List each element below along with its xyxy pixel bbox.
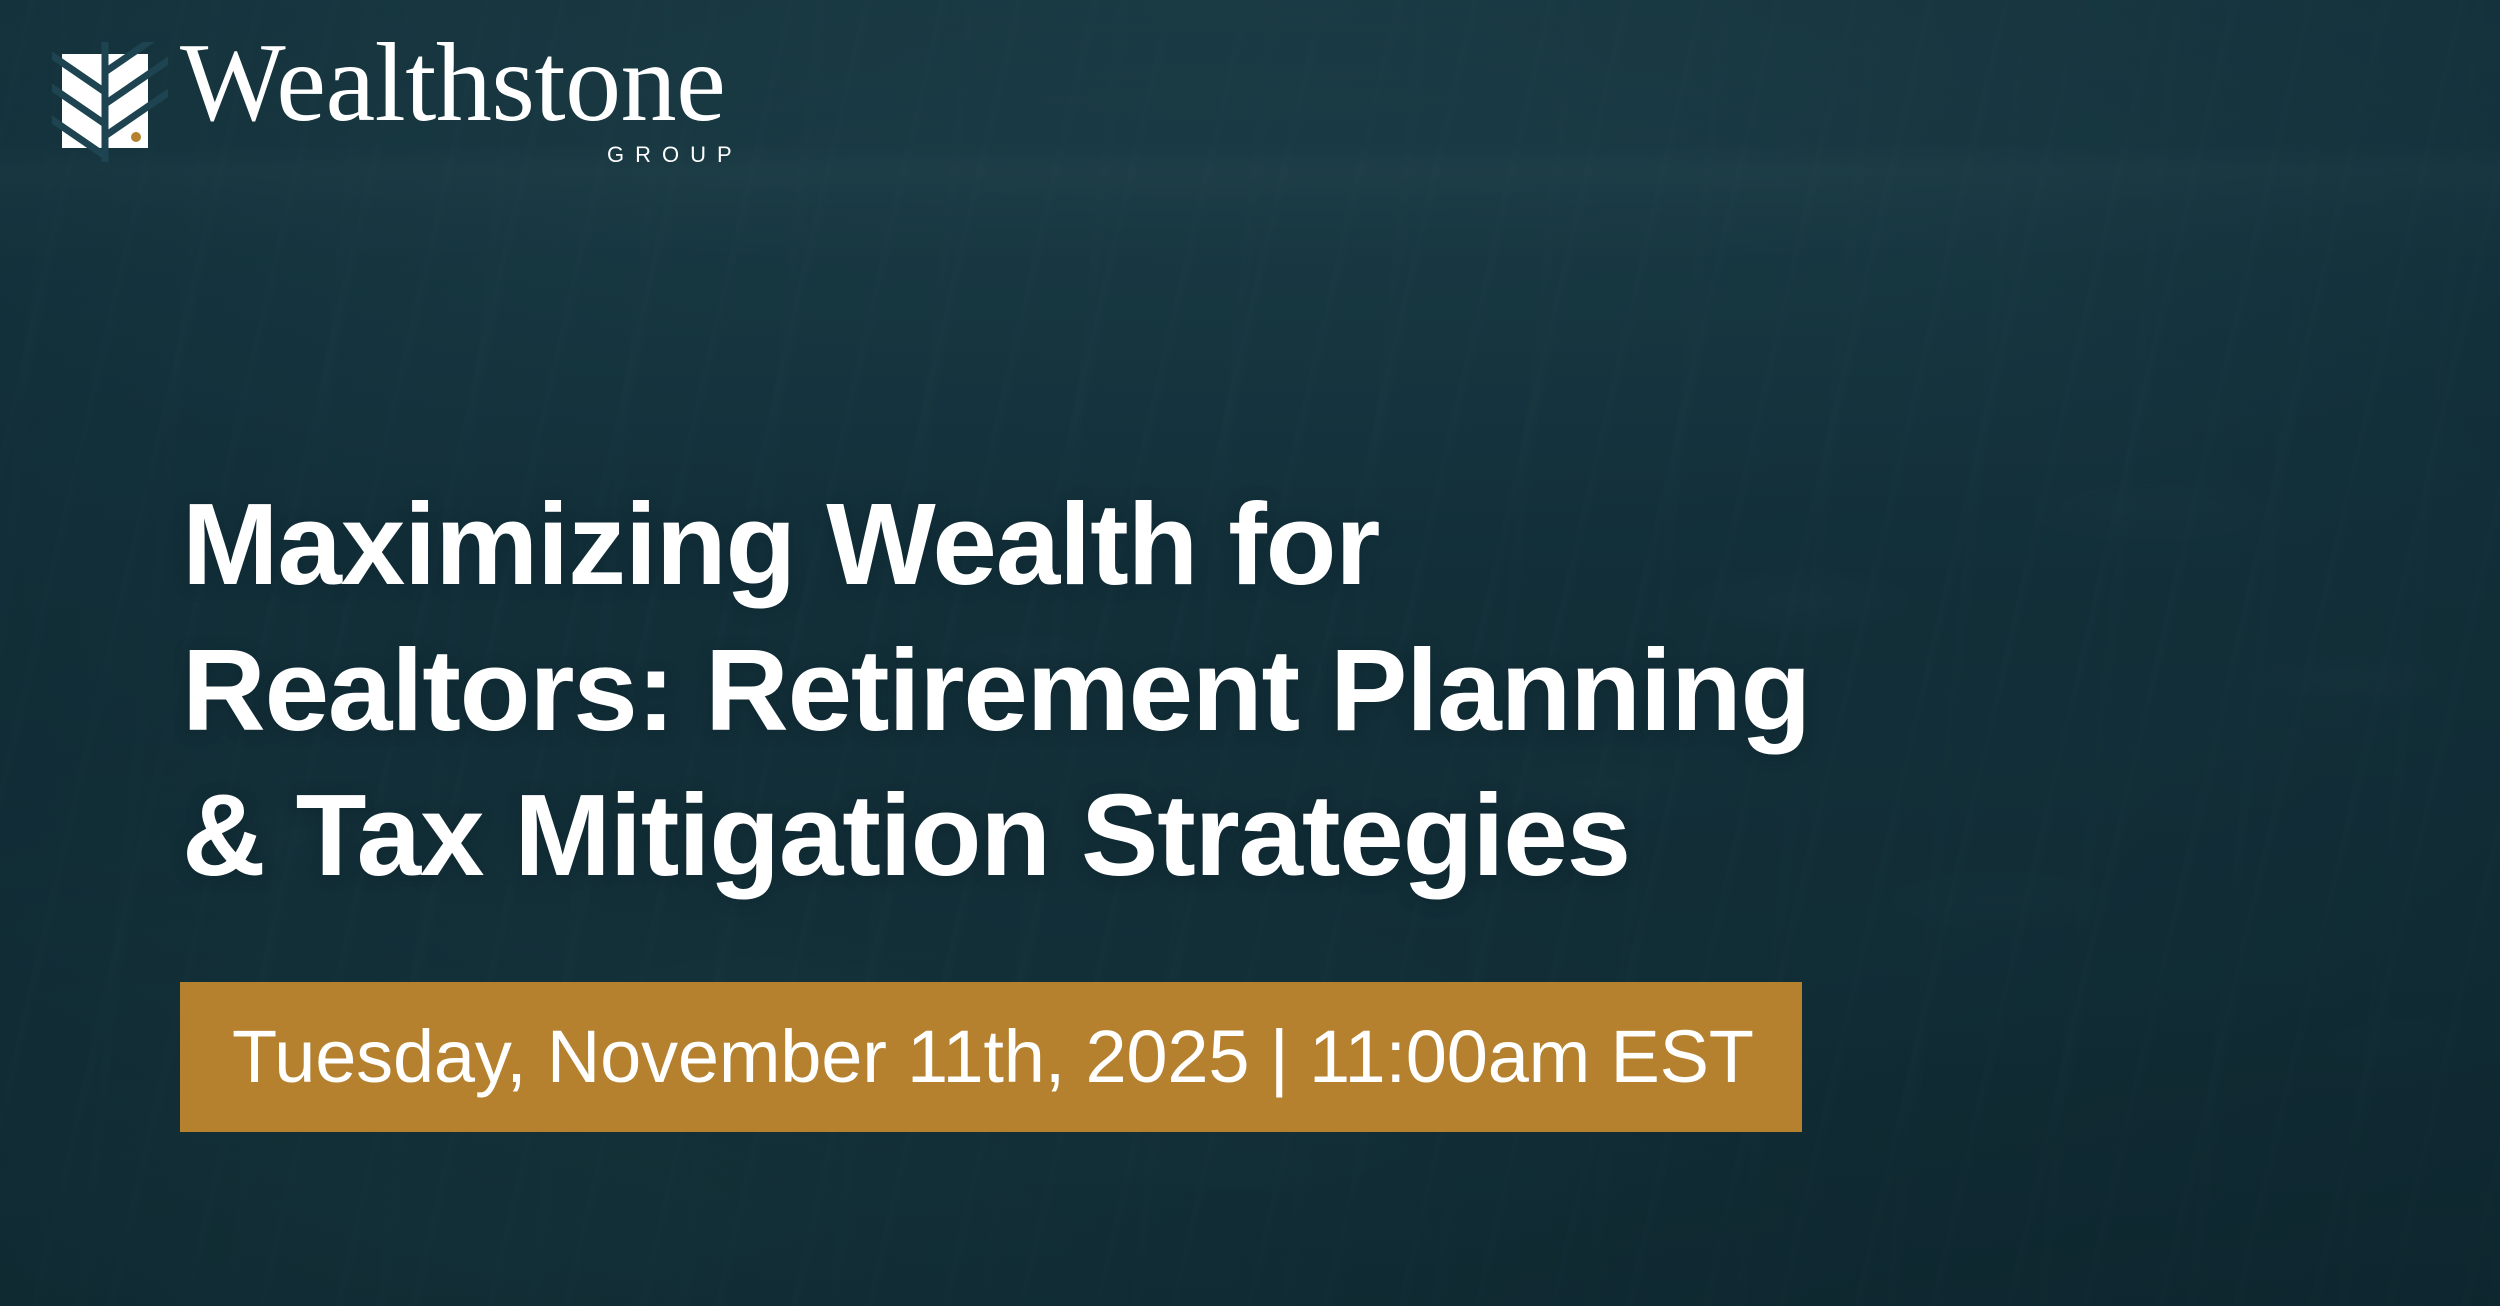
wheat-chevron-mark-icon (52, 42, 168, 162)
logo-wordmark: Wealthstone (180, 27, 725, 139)
event-date-time-text: Tuesday, November 11th, 2025 | 11:00am E… (232, 1020, 1754, 1094)
page-title: Maximizing Wealth for Realtors: Retireme… (182, 472, 2182, 909)
headline-line-1: Maximizing Wealth for (182, 472, 2182, 618)
wealthstone-logo[interactable]: Wealthstone GROUP (52, 42, 772, 187)
headline-line-2: Realtors: Retirement Planning (182, 618, 2182, 764)
headline-line-3: & Tax Mitigation Strategies (182, 763, 2182, 909)
webinar-promo-banner: Wealthstone GROUP Maximizing Wealth for … (0, 0, 2500, 1306)
logo-subtitle-group: GROUP (607, 142, 743, 168)
event-date-banner: Tuesday, November 11th, 2025 | 11:00am E… (180, 982, 1802, 1132)
